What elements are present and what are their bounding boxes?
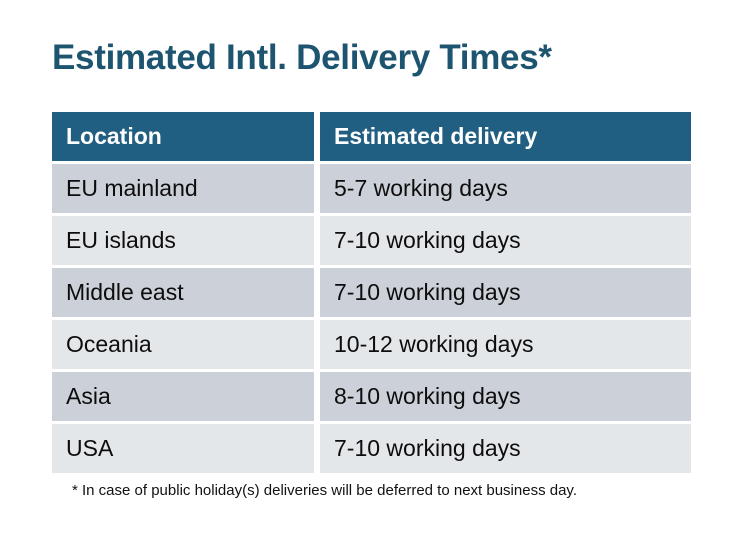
table-row: USA 7-10 working days [52, 424, 691, 473]
cell-estimated-delivery: 10-12 working days [320, 320, 691, 369]
cell-location: EU islands [52, 216, 314, 265]
footnote: * In case of public holiday(s) deliverie… [72, 481, 577, 501]
cell-estimated-delivery: 7-10 working days [320, 216, 691, 265]
column-header-estimated-delivery: Estimated delivery [320, 112, 691, 161]
cell-location: Middle east [52, 268, 314, 317]
table-row: EU mainland 5-7 working days [52, 164, 691, 213]
delivery-times-page: Estimated Intl. Delivery Times* Location… [0, 0, 745, 536]
table-row: Oceania 10-12 working days [52, 320, 691, 369]
column-header-location: Location [52, 112, 314, 161]
table-row: Middle east 7-10 working days [52, 268, 691, 317]
page-title: Estimated Intl. Delivery Times* [52, 36, 552, 80]
cell-estimated-delivery: 7-10 working days [320, 424, 691, 473]
table-header-row: Location Estimated delivery [52, 112, 691, 161]
cell-estimated-delivery: 5-7 working days [320, 164, 691, 213]
table-row: EU islands 7-10 working days [52, 216, 691, 265]
cell-estimated-delivery: 7-10 working days [320, 268, 691, 317]
cell-estimated-delivery: 8-10 working days [320, 372, 691, 421]
delivery-times-table: Location Estimated delivery EU mainland … [52, 112, 691, 473]
cell-location: USA [52, 424, 314, 473]
cell-location: EU mainland [52, 164, 314, 213]
cell-location: Asia [52, 372, 314, 421]
cell-location: Oceania [52, 320, 314, 369]
table-row: Asia 8-10 working days [52, 372, 691, 421]
